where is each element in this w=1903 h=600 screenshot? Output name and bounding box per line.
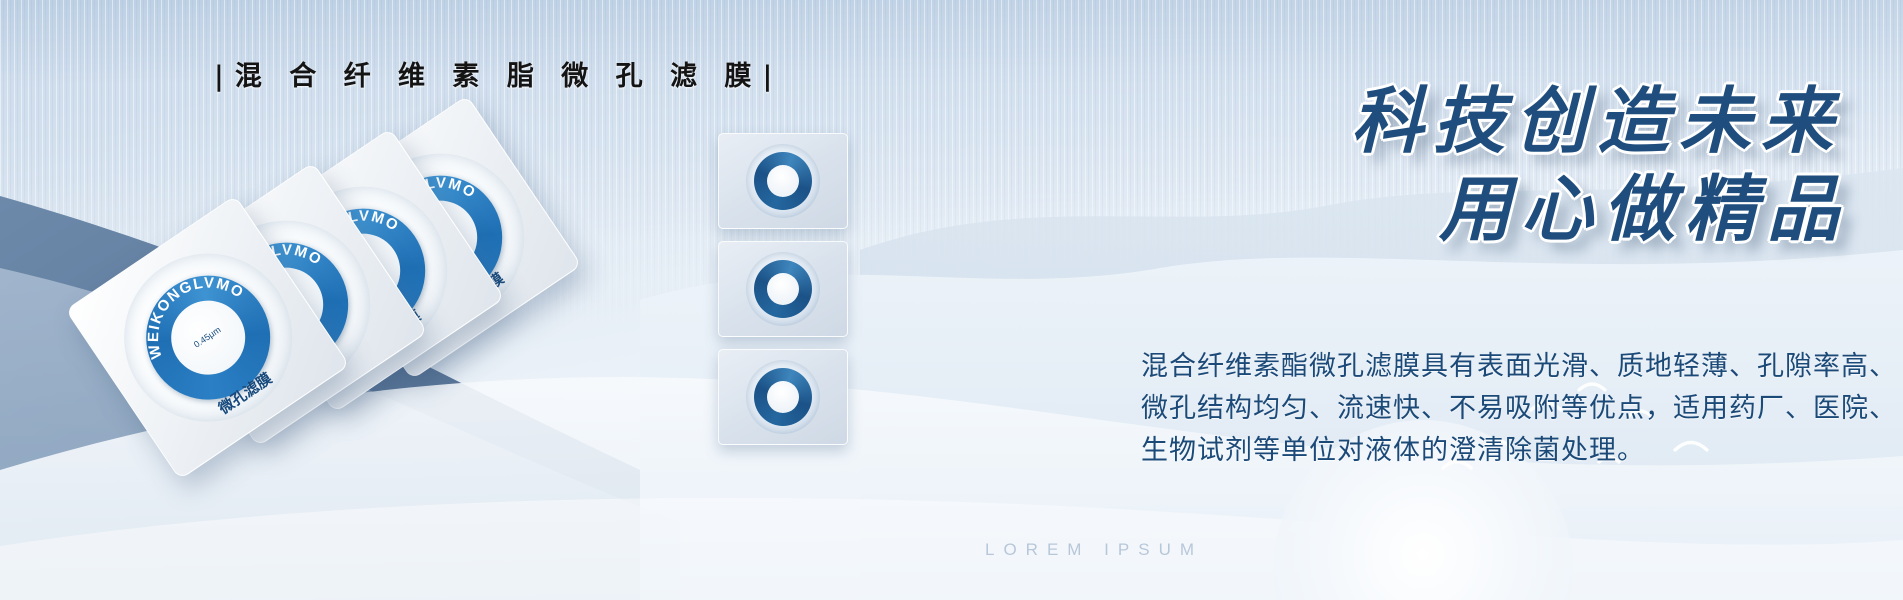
watermark-text: LOREM IPSUM (985, 540, 1203, 560)
description-paragraph: 混合纤维素酯微孔滤膜具有表面光滑、质地轻薄、孔隙率高、 微孔结构均匀、流速快、不… (1141, 346, 1841, 472)
paragraph-line-1: 混合纤维素酯微孔滤膜具有表面光滑、质地轻薄、孔隙率高、 (1141, 346, 1841, 388)
sample-disc (746, 144, 820, 218)
subtitle-text: 混 合 纤 维 素 脂 微 孔 滤 膜 (235, 61, 761, 92)
sample-label-core (767, 273, 799, 305)
subtitle-left-bar: | (212, 61, 235, 92)
sample-squares-column (718, 133, 858, 453)
promo-banner: |混 合 纤 维 素 脂 微 孔 滤 膜| 0.45μm WEIKONGLVMO… (0, 0, 1903, 600)
headline-line-2: 用心做精品 (1351, 172, 1849, 250)
sample-disc (746, 360, 820, 434)
sample-label-ring (754, 368, 812, 426)
sample-label-core (767, 165, 799, 197)
sample-square (718, 349, 848, 445)
subtitle-right-bar: | (760, 61, 783, 92)
paragraph-line-3: 生物试剂等单位对液体的澄清除菌处理。 (1141, 430, 1841, 472)
sample-label-core (767, 381, 799, 413)
sample-disc (746, 252, 820, 326)
sample-label-ring (754, 152, 812, 210)
sample-square (718, 133, 848, 229)
sample-label-ring (754, 260, 812, 318)
sample-square (718, 241, 848, 337)
product-photo-cluster: 0.45μm WEIKONGLVMO 微孔滤膜 0.45μm (105, 130, 575, 470)
product-subtitle: |混 合 纤 维 素 脂 微 孔 滤 膜| (212, 54, 783, 93)
headline-block: 科技创造未来 用心做精品 (1351, 84, 1843, 250)
paragraph-line-2: 微孔结构均匀、流速快、不易吸附等优点，适用药厂、医院、 (1141, 388, 1841, 430)
headline-line-1: 科技创造未来 (1351, 84, 1843, 162)
